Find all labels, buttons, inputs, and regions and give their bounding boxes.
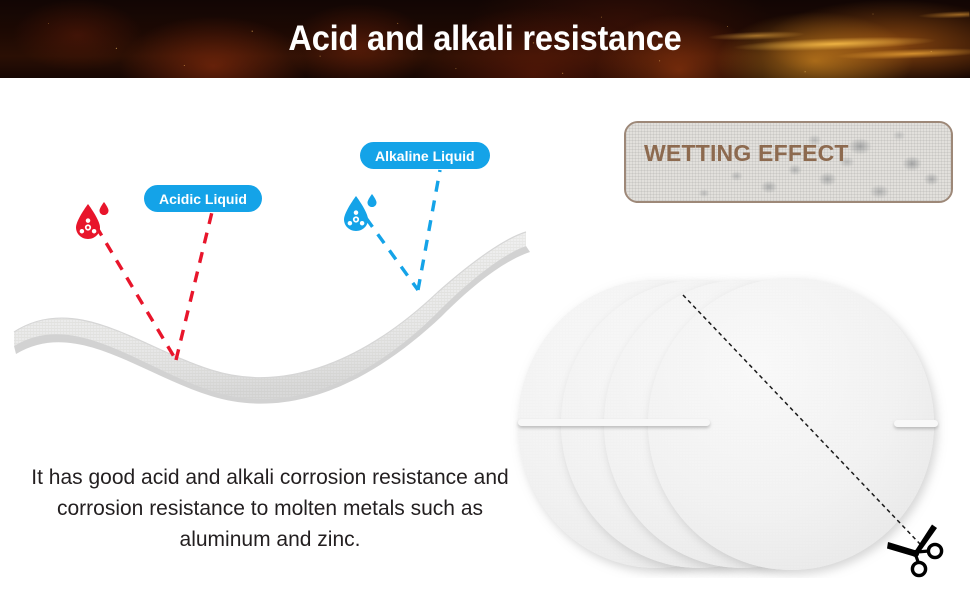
alkali-droplet-icon <box>340 190 380 239</box>
acid-droplet-icon <box>72 198 112 247</box>
description-paragraph: It has good acid and alkali corrosion re… <box>22 462 518 555</box>
wetting-effect-panel: WETTING EFFECT <box>624 121 953 203</box>
page-title: Acid and alkali resistance <box>34 0 936 78</box>
infographic-page: Acid and alkali resistance <box>0 0 970 600</box>
badge-acidic-liquid: Acidic Liquid <box>144 185 262 212</box>
header-banner: Acid and alkali resistance <box>0 0 970 78</box>
disc-slit-right <box>894 420 938 427</box>
wetting-effect-label: WETTING EFFECT <box>644 140 849 167</box>
scissors-icon <box>884 522 946 578</box>
disc-slits <box>518 419 710 426</box>
badge-alkaline-liquid: Alkaline Liquid <box>360 142 490 169</box>
wavy-fabric-sheet <box>6 220 546 440</box>
